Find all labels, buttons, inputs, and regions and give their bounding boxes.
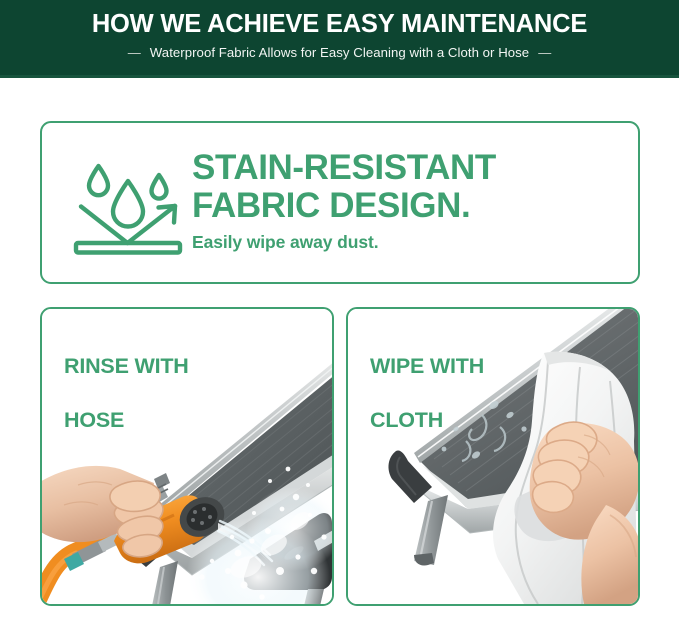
dash-right-icon: — [538, 46, 551, 59]
step-card-wipe-with-cloth: WIPE WITH CLOTH [346, 307, 640, 606]
feature-card: STAIN-RESISTANT FABRIC DESIGN. Easily wi… [40, 121, 640, 284]
dash-left-icon: — [128, 46, 141, 59]
feature-title-line2: FABRIC DESIGN. [192, 187, 496, 225]
step-card-rinse-with-hose: RINSE WITH HOSE [40, 307, 334, 606]
infographic-page: HOW WE ACHIEVE EASY MAINTENANCE — Waterp… [0, 0, 679, 618]
header-banner: HOW WE ACHIEVE EASY MAINTENANCE — Waterp… [0, 0, 679, 78]
feature-title-line1: STAIN-RESISTANT [192, 149, 496, 187]
header-subtitle-row: — Waterproof Fabric Allows for Easy Clea… [0, 45, 679, 60]
page-title: HOW WE ACHIEVE EASY MAINTENANCE [0, 9, 679, 39]
page-subtitle: Waterproof Fabric Allows for Easy Cleani… [150, 45, 529, 60]
water-repellent-fabric-icon [42, 151, 188, 255]
hand-spraying-hose-on-cot-photo [42, 309, 332, 604]
feature-subtitle: Easily wipe away dust. [192, 232, 496, 253]
hand-wiping-cloth-on-cot-photo [348, 309, 638, 604]
feature-text-block: STAIN-RESISTANT FABRIC DESIGN. Easily wi… [188, 149, 496, 256]
